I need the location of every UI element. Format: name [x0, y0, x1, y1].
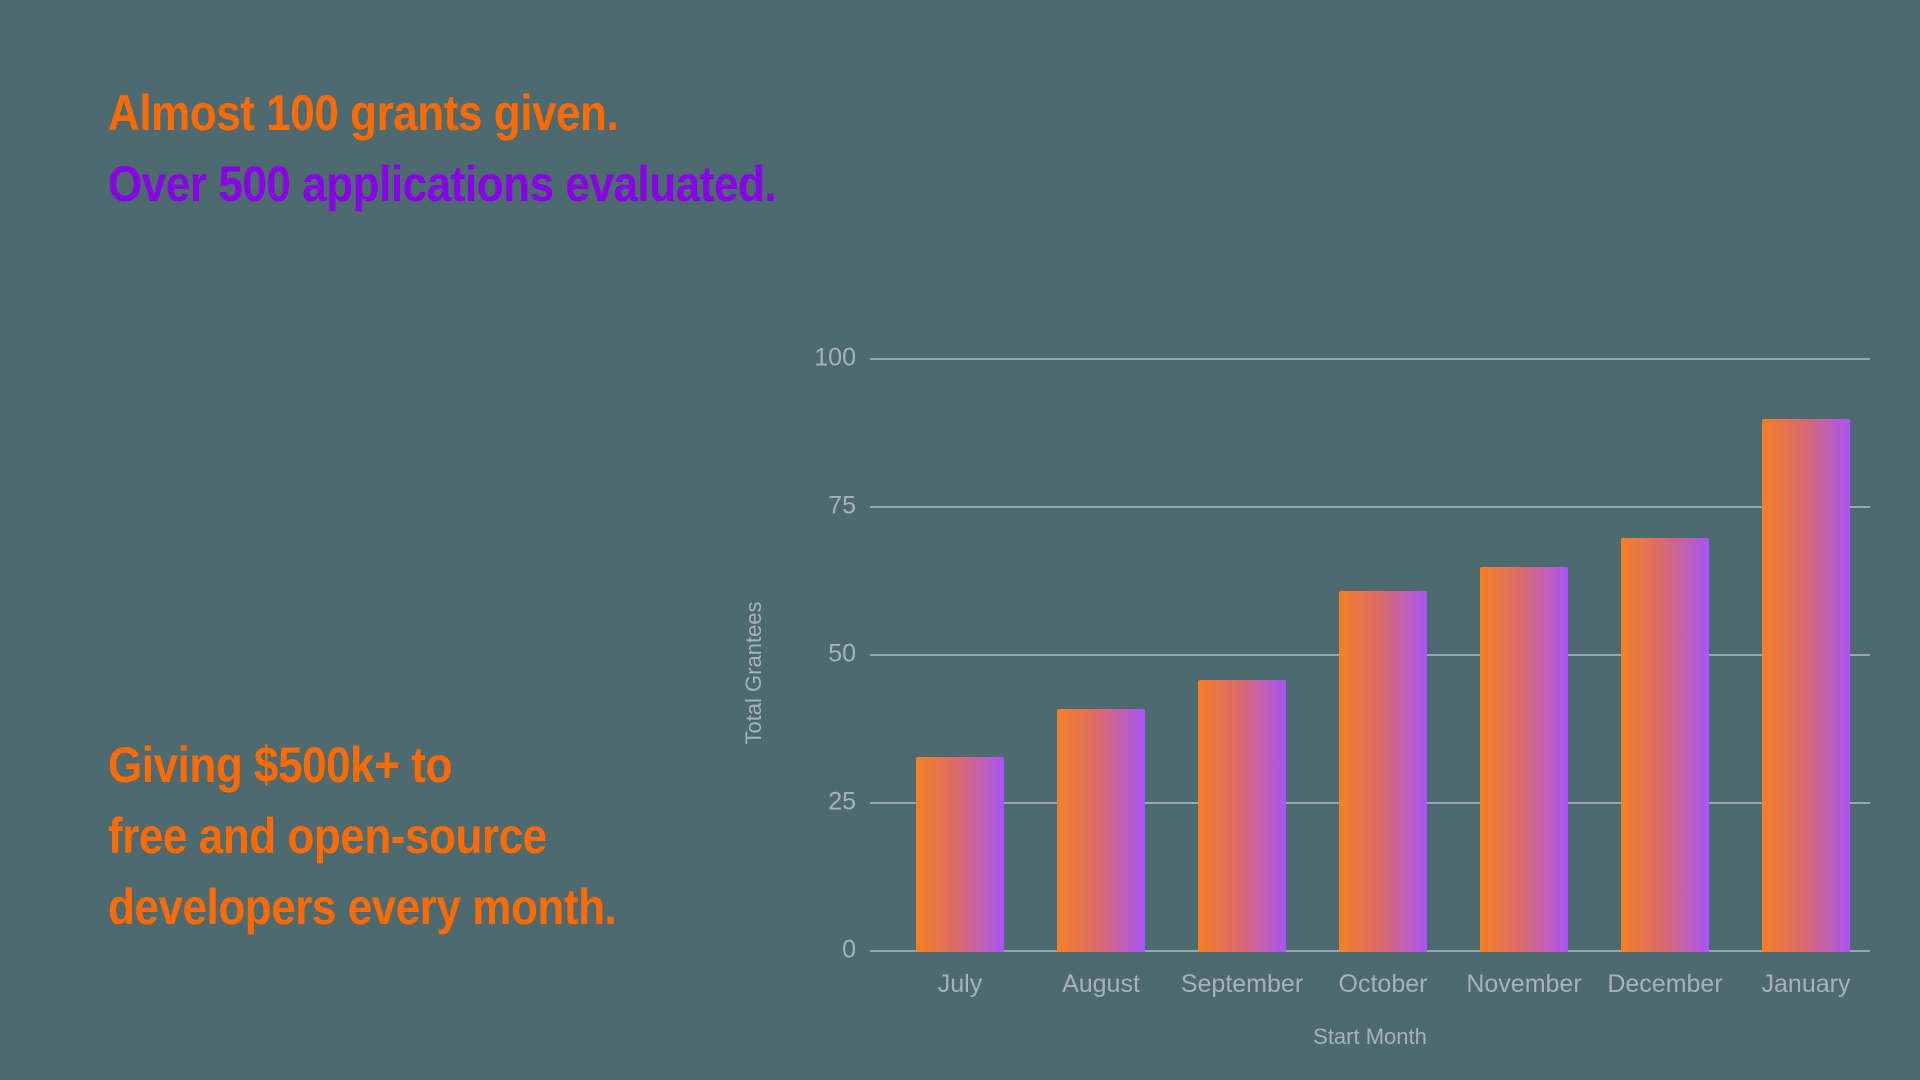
- bar[interactable]: [916, 757, 1004, 952]
- y-tick-label-0: 0: [842, 936, 856, 965]
- bar-column[interactable]: August: [1047, 360, 1155, 952]
- subhead-block: Giving $500k+ to free and open-source de…: [108, 730, 868, 943]
- y-axis-title: Total Grantees: [741, 601, 767, 744]
- y-tick-label-50: 50: [828, 640, 856, 669]
- bar-column[interactable]: October: [1329, 360, 1437, 952]
- x-tick-label: November: [1466, 970, 1581, 999]
- y-tick-label-100: 100: [814, 344, 856, 373]
- x-tick-label: August: [1062, 970, 1140, 999]
- subhead-line-2: free and open-source: [108, 801, 777, 872]
- bar[interactable]: [1480, 567, 1568, 952]
- bar-chart: Total Grantees 0255075100 JulyAugustSept…: [760, 300, 1870, 1040]
- bar[interactable]: [1198, 680, 1286, 952]
- bar-column[interactable]: December: [1611, 360, 1719, 952]
- headline-line-1: Almost 100 grants given.: [108, 78, 988, 149]
- bar-column[interactable]: January: [1752, 360, 1860, 952]
- plot-area: 0255075100 JulyAugustSeptemberOctoberNov…: [870, 360, 1870, 952]
- y-tick-label-75: 75: [828, 492, 856, 521]
- x-tick-label: October: [1339, 970, 1428, 999]
- bar-column[interactable]: July: [906, 360, 1014, 952]
- bar-series: JulyAugustSeptemberOctoberNovemberDecemb…: [870, 360, 1870, 952]
- x-tick-label: January: [1762, 970, 1851, 999]
- x-tick-label: September: [1181, 970, 1303, 999]
- bar[interactable]: [1339, 591, 1427, 952]
- bar[interactable]: [1057, 709, 1145, 952]
- subhead-line-1: Giving $500k+ to: [108, 730, 777, 801]
- y-tick-label-25: 25: [828, 788, 856, 817]
- x-tick-label: July: [938, 970, 982, 999]
- x-axis-title: Start Month: [870, 1024, 1870, 1050]
- bar[interactable]: [1621, 538, 1709, 952]
- slide-root: { "theme": { "background": "#4d6a70", "o…: [0, 0, 1920, 1080]
- headline-line-2: Over 500 applications evaluated.: [108, 149, 988, 220]
- bar-column[interactable]: September: [1188, 360, 1296, 952]
- bar[interactable]: [1762, 419, 1850, 952]
- subhead-line-3: developers every month.: [108, 872, 777, 943]
- headline-block: Almost 100 grants given. Over 500 applic…: [108, 78, 1108, 220]
- bar-column[interactable]: November: [1470, 360, 1578, 952]
- x-tick-label: December: [1607, 970, 1722, 999]
